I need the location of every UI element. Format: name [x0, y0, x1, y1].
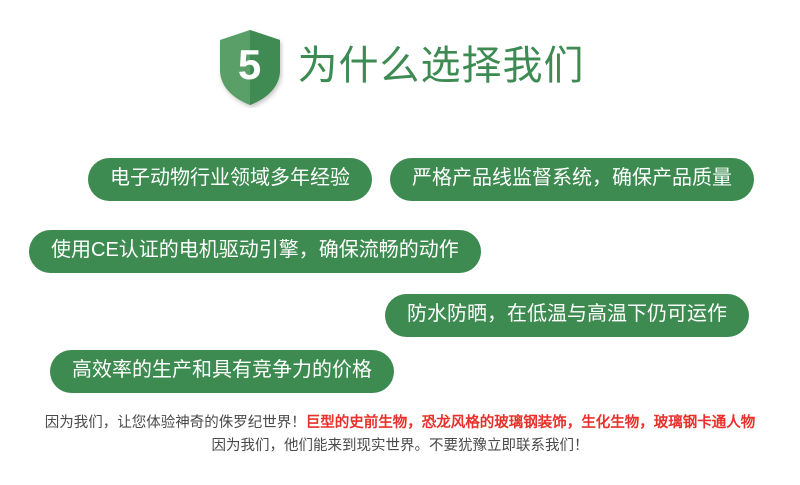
footer-line-1: 因为我们，让您体验神奇的侏罗纪世界！巨型的史前生物，恐龙风格的玻璃钢装饰，生化生… — [0, 412, 800, 435]
feature-row-2: 使用CE认证的电机驱动引擎，确保流畅的动作 — [0, 228, 800, 274]
feature-pill-label: 使用CE认证的电机驱动引擎，确保流畅的动作 — [51, 240, 459, 262]
feature-pill-experience[interactable]: 电子动物行业领域多年经验 — [88, 158, 372, 201]
header: 5 为什么选择我们 — [0, 22, 800, 114]
shield-badge: 5 — [216, 28, 284, 108]
feature-pill-label: 高效率的生产和具有竞争力的价格 — [72, 360, 372, 382]
feature-pill-price[interactable]: 高效率的生产和具有竞争力的价格 — [50, 350, 394, 393]
page-title: 为什么选择我们 — [298, 46, 585, 90]
badge-number: 5 — [216, 28, 284, 108]
feature-pill-label: 防水防晒，在低温与高温下仍可运作 — [407, 304, 727, 326]
footer-line-2: 因为我们，他们能来到现实世界。不要犹豫立即联系我们！ — [0, 435, 800, 458]
feature-pill-quality-control[interactable]: 严格产品线监督系统，确保产品质量 — [390, 158, 754, 201]
feature-row-1: 电子动物行业领域多年经验 严格产品线监督系统，确保产品质量 — [0, 156, 800, 202]
feature-list: 电子动物行业领域多年经验 严格产品线监督系统，确保产品质量 使用CE认证的电机驱… — [0, 152, 800, 392]
feature-pill-label: 严格产品线监督系统，确保产品质量 — [412, 168, 732, 190]
feature-pill-label: 电子动物行业领域多年经验 — [110, 168, 350, 190]
footer-line-1-highlight: 巨型的史前生物，恐龙风格的玻璃钢装饰，生化生物，玻璃钢卡通人物 — [306, 415, 756, 431]
footer-line-1-prefix: 因为我们，让您体验神奇的侏罗纪世界！ — [45, 415, 306, 431]
feature-pill-weatherproof[interactable]: 防水防晒，在低温与高温下仍可运作 — [385, 294, 749, 337]
feature-pill-ce-motor[interactable]: 使用CE认证的电机驱动引擎，确保流畅的动作 — [29, 230, 481, 273]
feature-row-4: 高效率的生产和具有竞争力的价格 — [0, 348, 800, 394]
footer: 因为我们，让您体验神奇的侏罗纪世界！巨型的史前生物，恐龙风格的玻璃钢装饰，生化生… — [0, 412, 800, 458]
feature-row-3: 防水防晒，在低温与高温下仍可运作 — [0, 292, 800, 338]
